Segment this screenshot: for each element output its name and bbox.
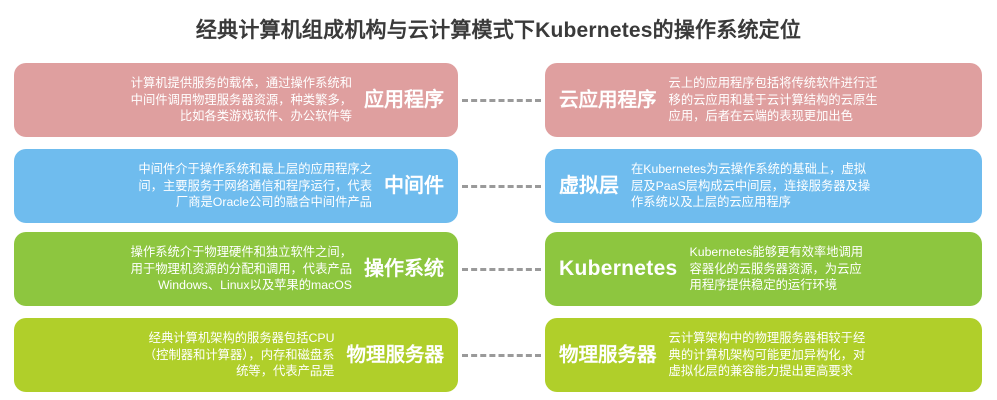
- cloud-card-description: 云上的应用程序包括将传统软件进行迁 移的云应用和基于云计算结构的云原生 应用，后…: [657, 75, 970, 125]
- layer-row-physical-server: 经典计算机架构的服务器包括CPU （控制器和计算器），内存和磁盘系 统等，代表产…: [0, 318, 997, 392]
- dashed-connector-icon: [462, 99, 541, 102]
- classic-card-description: 经典计算机架构的服务器包括CPU （控制器和计算器），内存和磁盘系 统等，代表产…: [26, 330, 346, 380]
- layer-row-operating-system: 操作系统介于物理硬件和独立软件之间， 用于物理机资源的分配和调用，代表产品 Wi…: [0, 232, 997, 306]
- dashed-connector-icon: [462, 185, 541, 188]
- cloud-card-kubernetes[interactable]: Kubernetes Kubernetes能够更有效率地调用 容器化的云服务器资…: [545, 232, 982, 306]
- classic-card-operating-system[interactable]: 操作系统介于物理硬件和独立软件之间， 用于物理机资源的分配和调用，代表产品 Wi…: [14, 232, 458, 306]
- dashed-connector-icon: [462, 268, 541, 271]
- layer-row-middleware: 中间件介于操作系统和最上层的应用程序之 间，主要服务于网络通信和程序运行，代表 …: [0, 149, 997, 223]
- classic-card-label: 应用程序: [364, 88, 444, 112]
- cloud-card-label: 云应用程序: [559, 88, 657, 112]
- cloud-card-description: 云计算架构中的物理服务器相较于经 典的计算机架构可能更加异构化，对 虚拟化层的兼…: [657, 330, 970, 380]
- cloud-card-label: Kubernetes: [559, 257, 678, 281]
- cloud-card-application[interactable]: 云应用程序 云上的应用程序包括将传统软件进行迁 移的云应用和基于云计算结构的云原…: [545, 63, 982, 137]
- classic-card-label: 操作系统: [364, 257, 444, 281]
- diagram-canvas: 经典计算机组成机构与云计算模式下Kubernetes的操作系统定位 计算机提供服…: [0, 0, 997, 400]
- classic-card-label: 物理服务器: [346, 343, 444, 367]
- cloud-card-description: 在Kubernetes为云操作系统的基础上，虚拟 层及PaaS层构成云中间层，连…: [619, 161, 970, 211]
- cloud-card-description: Kubernetes能够更有效率地调用 容器化的云服务器资源，为云应 用程序提供…: [678, 244, 970, 294]
- layer-row-application: 计算机提供服务的载体，通过操作系统和 中间件调用物理服务器资源，种类繁多， 比如…: [0, 63, 997, 137]
- classic-card-application[interactable]: 计算机提供服务的载体，通过操作系统和 中间件调用物理服务器资源，种类繁多， 比如…: [14, 63, 458, 137]
- dashed-connector-icon: [462, 354, 541, 357]
- classic-card-description: 中间件介于操作系统和最上层的应用程序之 间，主要服务于网络通信和程序运行，代表 …: [26, 161, 384, 211]
- classic-card-label: 中间件: [384, 174, 444, 198]
- cloud-card-label: 物理服务器: [559, 343, 657, 367]
- classic-card-middleware[interactable]: 中间件介于操作系统和最上层的应用程序之 间，主要服务于网络通信和程序运行，代表 …: [14, 149, 458, 223]
- cloud-card-label: 虚拟层: [559, 174, 619, 198]
- page-title: 经典计算机组成机构与云计算模式下Kubernetes的操作系统定位: [0, 14, 997, 44]
- cloud-card-virtual-layer[interactable]: 虚拟层 在Kubernetes为云操作系统的基础上，虚拟 层及PaaS层构成云中…: [545, 149, 982, 223]
- cloud-card-physical-server[interactable]: 物理服务器 云计算架构中的物理服务器相较于经 典的计算机架构可能更加异构化，对 …: [545, 318, 982, 392]
- classic-card-description: 计算机提供服务的载体，通过操作系统和 中间件调用物理服务器资源，种类繁多， 比如…: [26, 75, 364, 125]
- classic-card-description: 操作系统介于物理硬件和独立软件之间， 用于物理机资源的分配和调用，代表产品 Wi…: [26, 244, 364, 294]
- classic-card-physical-server[interactable]: 经典计算机架构的服务器包括CPU （控制器和计算器），内存和磁盘系 统等，代表产…: [14, 318, 458, 392]
